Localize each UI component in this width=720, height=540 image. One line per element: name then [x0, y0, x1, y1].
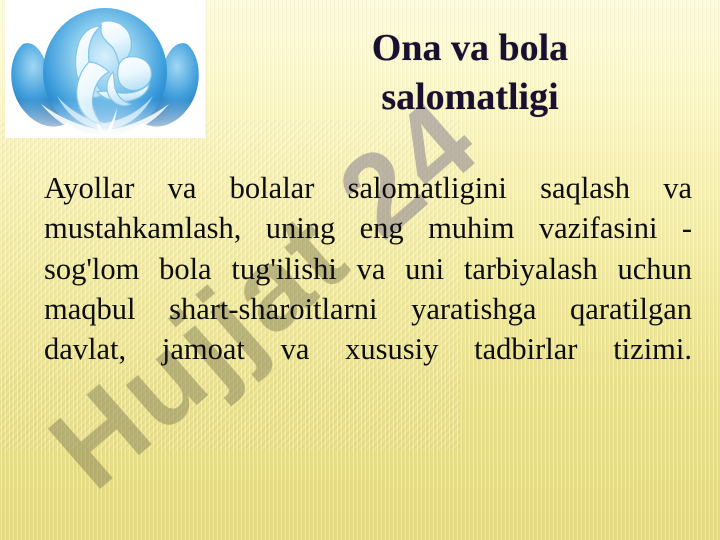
mother-and-child-logo-icon: [5, 0, 205, 138]
logo-container: [5, 0, 205, 138]
slide-title: Ona va bola salomatligi: [250, 24, 690, 121]
slide-body-text: Ayollar va bolalar salomatligini saqlash…: [44, 168, 692, 410]
slide-title-line-1: Ona va bola: [250, 24, 690, 73]
slide-title-line-2: salomatligi: [250, 73, 690, 122]
presentation-slide: Hujjat 24: [0, 0, 720, 540]
